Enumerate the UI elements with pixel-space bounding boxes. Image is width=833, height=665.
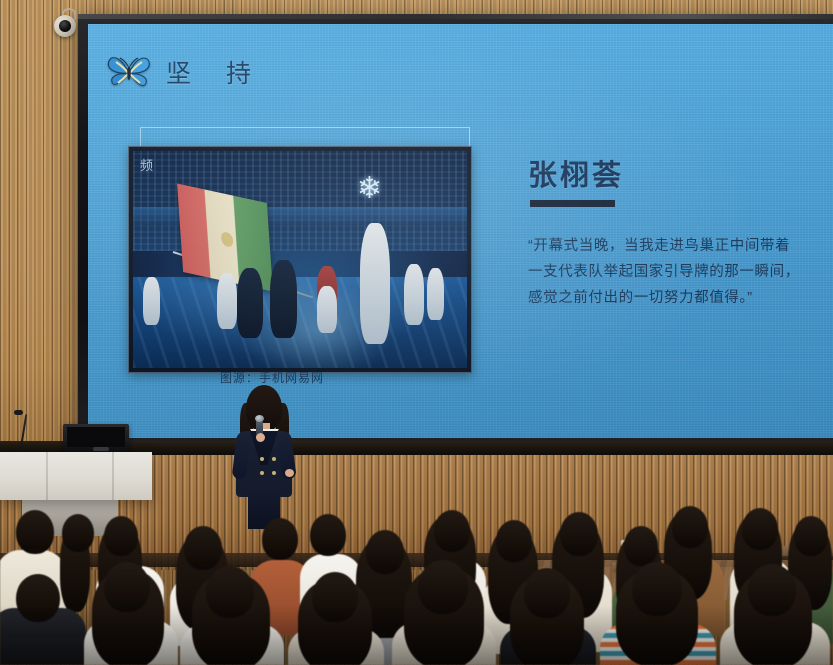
audience-head <box>16 510 54 554</box>
presenter-hand-2 <box>285 469 294 477</box>
audience-head <box>310 514 346 556</box>
photo-person <box>143 277 160 325</box>
gooseneck-microphone-head <box>14 410 23 415</box>
butterfly-icon <box>106 52 152 92</box>
laptop-screen <box>67 427 125 447</box>
lectern-seam <box>46 452 48 500</box>
audience-head <box>434 510 470 552</box>
laptop-hinge <box>93 447 109 451</box>
audience-head <box>206 566 254 618</box>
audience-head <box>672 506 708 548</box>
audience-head <box>184 526 222 570</box>
audience-head <box>366 530 404 574</box>
blazer-button <box>260 457 264 461</box>
slide-photo-frame: ❄ 频 <box>128 146 472 373</box>
audience-head <box>104 562 150 612</box>
audience-head <box>16 574 60 622</box>
photo-flag-bearer <box>360 223 390 345</box>
audience-head <box>62 514 94 552</box>
presentation-slide[interactable]: 坚 持 ❄ <box>88 24 833 438</box>
lecture-hall-photo: 坚 持 ❄ <box>0 0 833 665</box>
photo-person <box>237 268 264 337</box>
audience-head <box>794 516 828 556</box>
audience-head <box>496 520 532 562</box>
blazer-button <box>272 471 276 475</box>
blazer-button <box>260 471 264 475</box>
slide-photo: ❄ 频 <box>133 151 467 368</box>
person-quote: “开幕式当晚，当我走进鸟巢正中间带着一支代表队举起国家引导牌的那一瞬间，感觉之前… <box>528 233 800 311</box>
photo-person <box>427 268 444 320</box>
audience-head <box>624 526 658 566</box>
blazer-button <box>272 457 276 461</box>
photo-person <box>217 273 237 329</box>
slide-title-row: 坚 持 <box>106 52 265 92</box>
presenter-hand <box>256 433 265 442</box>
microphone-head <box>255 415 264 422</box>
photo-snowflake-placard: ❄ <box>353 173 385 205</box>
audience <box>0 496 833 665</box>
heading-underline-rule <box>530 200 615 207</box>
audience-head <box>632 562 682 616</box>
person-name-heading: 张栩荟 <box>528 152 624 194</box>
presenter-laptop[interactable] <box>63 424 129 454</box>
lectern <box>0 452 152 500</box>
audience-head <box>418 560 468 614</box>
slide-title: 坚 持 <box>166 54 265 90</box>
audience-head <box>742 508 778 550</box>
dome-camera-icon <box>59 20 71 32</box>
photo-person <box>404 264 424 325</box>
lectern-seam <box>112 452 114 500</box>
photo-flag-emblem <box>221 232 234 249</box>
audience-head <box>560 512 598 556</box>
audience-head <box>748 564 796 616</box>
audience-head <box>104 516 138 556</box>
photo-watermark: 频 <box>140 155 153 174</box>
photo-caption: 图源：手机网易网 <box>220 369 324 386</box>
audience-head <box>312 572 358 622</box>
photo-person <box>317 286 337 334</box>
photo-person <box>270 260 297 338</box>
audience-head <box>262 518 298 560</box>
audience-head <box>524 568 570 618</box>
